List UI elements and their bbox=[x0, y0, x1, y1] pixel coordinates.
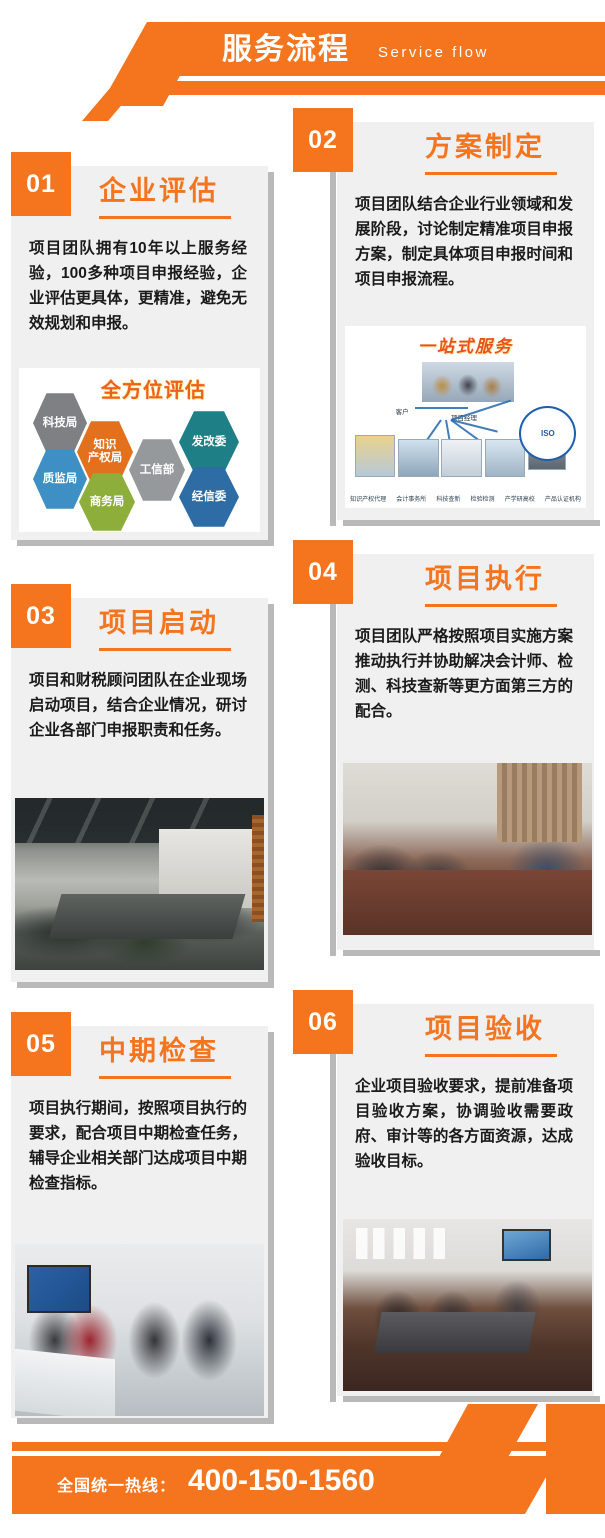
photo-image bbox=[15, 798, 264, 970]
card-text-06: 企业项目验收要求，提前准备项目验收方案，协调验收需要政府、审计等的各方面资源，达… bbox=[355, 1074, 573, 1174]
one-stop-bottom-labels: 知识产权代理 会计事务所 科技查新 检验检测 产学研高校 产品认证机构 bbox=[345, 492, 586, 504]
photo-audit-meeting bbox=[343, 1219, 592, 1391]
card-shadow-right bbox=[268, 172, 274, 546]
card-text-05: 项目执行期间，按照项目执行的要求，配合项目中期检查任务，辅导企业相关部门达成项目… bbox=[29, 1096, 247, 1196]
card-number-badge-04: 04 bbox=[293, 540, 353, 604]
display-screen bbox=[27, 1265, 91, 1314]
photo-image bbox=[15, 1244, 264, 1416]
card-text-01: 项目团队拥有10年以上服务经验，100多种项目申报经验，企业评估更具体，更精准，… bbox=[29, 236, 247, 336]
card-title-rule-02 bbox=[425, 172, 557, 175]
card-title-06: 项目验收 bbox=[425, 1012, 545, 1046]
card-shadow-bottom bbox=[17, 540, 274, 546]
hex-node-shangwu-ju: 商务局 bbox=[79, 472, 135, 532]
hex-node-label: 发改委 bbox=[192, 436, 227, 449]
process-card-06: 06 项目验收 企业项目验收要求，提前准备项目验收方案，协调验收需要政府、审计等… bbox=[337, 1004, 594, 1396]
one-stop-arrow bbox=[451, 399, 511, 420]
wood-panel bbox=[252, 815, 264, 922]
hex-node-label: 知识 产权局 bbox=[88, 439, 123, 465]
card-title-rule-06 bbox=[425, 1054, 557, 1057]
hex-diagram: 全方位评估 科技局 知识 产权局 发改委 质监局 工信部 商务局 经信委 bbox=[19, 368, 260, 532]
hex-node-fagaiwei: 发改委 bbox=[179, 410, 239, 474]
card-text-03: 项目和财税顾问团队在企业现场启动项目，结合企业情况，研讨企业各部门申报职责和任务… bbox=[29, 668, 247, 743]
one-stop-bottom-label: 知识产权代理 bbox=[350, 494, 386, 503]
card-title-rule-05 bbox=[99, 1076, 231, 1079]
card-title-rule-04 bbox=[425, 604, 557, 607]
card-shadow-bottom bbox=[343, 1396, 600, 1402]
one-stop-bottom-label: 检验检测 bbox=[471, 494, 495, 503]
reception-counter bbox=[15, 1349, 115, 1416]
card-text-04: 项目团队严格按照项目实施方案推动执行并协助解决会计师、检测、科技查新等更方面第三… bbox=[355, 624, 573, 724]
card-number-badge-01: 01 bbox=[11, 152, 71, 216]
hex-node-label: 经信委 bbox=[192, 491, 227, 504]
wall-monitor bbox=[502, 1229, 551, 1261]
one-stop-icon-inspection bbox=[485, 439, 526, 477]
card-title-04: 项目执行 bbox=[425, 562, 545, 596]
one-stop-bottom-label: 科技查新 bbox=[436, 494, 460, 503]
hex-node-label: 质监局 bbox=[43, 473, 78, 486]
photo-training-room bbox=[343, 763, 592, 935]
one-stop-bottom-label: 产品认证机构 bbox=[545, 494, 581, 503]
process-card-03: 03 项目启动 项目和财税顾问团队在企业现场启动项目，结合企业情况，研讨企业各部… bbox=[11, 598, 268, 982]
footer-hotline-label: 全国统一热线： bbox=[57, 1472, 176, 1496]
card-shadow-bottom bbox=[343, 520, 600, 526]
hex-node-label: 工信部 bbox=[140, 464, 175, 477]
card-number-badge-06: 06 bbox=[293, 990, 353, 1054]
one-stop-team-photo bbox=[422, 362, 514, 402]
hex-node-jingxinwei: 经信委 bbox=[179, 466, 239, 528]
one-stop-icon-tech-search bbox=[441, 439, 482, 477]
card-shadow-bottom bbox=[17, 1418, 274, 1424]
card-shadow-bottom bbox=[17, 982, 274, 988]
page-subtitle: Service flow bbox=[378, 40, 489, 66]
header-accent-stripe bbox=[116, 81, 605, 95]
card-title-03: 项目启动 bbox=[99, 606, 219, 640]
header-banner-band bbox=[140, 22, 605, 76]
hex-node-label: 商务局 bbox=[90, 496, 125, 509]
hex-diagram-title: 全方位评估 bbox=[101, 374, 206, 403]
one-stop-bottom-label: 产学研高校 bbox=[505, 494, 535, 503]
hex-node-zhijian-ju: 质监局 bbox=[33, 448, 87, 510]
process-card-01: 01 企业评估 项目团队拥有10年以上服务经验，100多种项目申报经验，企业评估… bbox=[11, 166, 268, 540]
card-text-02: 项目团队结合企业行业领域和发展阶段，讨论制定精准项目申报方案，制定具体项目申报时… bbox=[355, 192, 573, 292]
photo-meeting-room bbox=[15, 798, 264, 970]
hex-node-gongxin-bu: 工信部 bbox=[129, 438, 185, 502]
conference-table bbox=[374, 1312, 536, 1353]
photo-image bbox=[343, 1219, 592, 1391]
wall-certificates bbox=[353, 1228, 497, 1259]
page-title: 服务流程 bbox=[222, 30, 350, 70]
infographic-page: 服务流程 Service flow 01 企业评估 项目团队拥有10年以上服务经… bbox=[0, 0, 605, 1538]
one-stop-icon-ip-agency bbox=[355, 435, 396, 477]
card-number-badge-05: 05 bbox=[11, 1012, 71, 1076]
photo-image bbox=[343, 763, 592, 935]
photo-exhibition-hall bbox=[15, 1244, 264, 1416]
hex-node-label: 科技局 bbox=[43, 417, 78, 430]
process-card-04: 04 项目执行 项目团队严格按照项目实施方案推动执行并协助解决会计师、检测、科技… bbox=[337, 554, 594, 950]
card-title-rule-03 bbox=[99, 648, 231, 651]
one-stop-service-diagram: 一站式服务 客户 项目经理 ISO 知识产权代理 会计事务所 科技查新 检验检测… bbox=[345, 326, 586, 508]
page-header: 服务流程 Service flow bbox=[0, 0, 605, 105]
card-title-05: 中期检查 bbox=[99, 1034, 219, 1068]
hex-node-keji-ju: 科技局 bbox=[33, 392, 87, 454]
one-stop-title: 一站式服务 bbox=[345, 332, 586, 357]
conference-table bbox=[48, 894, 245, 939]
card-title-rule-01 bbox=[99, 216, 231, 219]
card-title-02: 方案制定 bbox=[425, 130, 545, 164]
one-stop-certification-seal: ISO bbox=[519, 406, 576, 461]
footer-phone-number[interactable]: 400-150-1560 bbox=[188, 1464, 375, 1498]
footer-accent-stripe bbox=[12, 1442, 572, 1451]
card-shadow-left bbox=[330, 554, 336, 956]
card-shadow-left bbox=[330, 122, 336, 526]
process-card-05: 05 中期检查 项目执行期间，按照项目执行的要求，配合项目中期检查任务，辅导企业… bbox=[11, 1026, 268, 1418]
card-number-badge-02: 02 bbox=[293, 108, 353, 172]
card-shadow-bottom bbox=[343, 950, 600, 956]
card-number-badge-03: 03 bbox=[11, 584, 71, 648]
one-stop-bottom-label: 会计事务所 bbox=[396, 494, 426, 503]
one-stop-label-customer: 客户 bbox=[396, 406, 409, 416]
process-card-02: 02 方案制定 项目团队结合企业行业领域和发展阶段，讨论制定精准项目申报方案，制… bbox=[337, 122, 594, 520]
card-shadow-right bbox=[268, 604, 274, 988]
one-stop-arrow bbox=[415, 407, 468, 409]
one-stop-icon-accounting bbox=[398, 439, 439, 477]
desk-surface bbox=[343, 870, 592, 935]
window-blinds bbox=[497, 763, 582, 842]
card-shadow-left bbox=[330, 1004, 336, 1402]
card-shadow-right bbox=[268, 1032, 274, 1424]
card-title-01: 企业评估 bbox=[99, 174, 219, 208]
